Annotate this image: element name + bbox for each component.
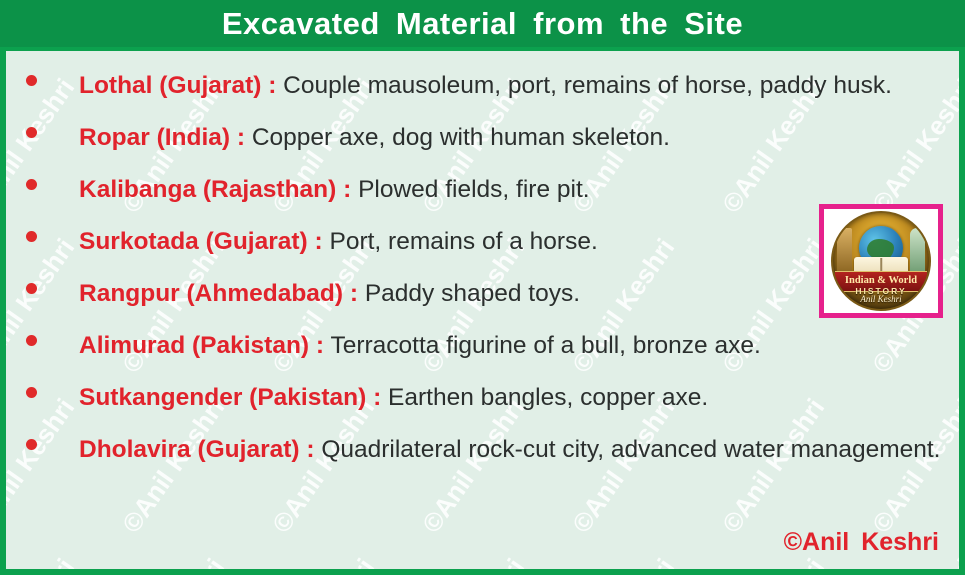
watermark-text: ©Anil Keshri xyxy=(566,553,681,569)
watermark-text: ©Anil Keshri xyxy=(6,553,81,569)
brand-logo: Indian & World HISTORY Anil Keshri xyxy=(819,204,943,318)
bullet-icon xyxy=(26,335,37,346)
bullet-icon xyxy=(26,387,37,398)
site-description: Plowed fields, fire pit. xyxy=(358,176,590,203)
site-description: Terracotta figurine of a bull, bronze ax… xyxy=(330,332,760,359)
watermark-text: ©Anil Keshri xyxy=(116,553,231,569)
list-item-text: Rangpur (Ahmedabad) : Paddy shaped toys. xyxy=(79,280,580,307)
bullet-icon xyxy=(26,231,37,242)
logo-title: Indian & World xyxy=(845,276,917,287)
site-description: Earthen bangles, copper axe. xyxy=(388,384,708,411)
list-item: Kalibanga (Rajasthan) : Plowed fields, f… xyxy=(6,164,959,216)
excavation-list: Lothal (Gujarat) : Couple mausoleum, por… xyxy=(6,51,959,476)
list-item: Alimurad (Pakistan) : Terracotta figurin… xyxy=(6,320,959,372)
site-description: Paddy shaped toys. xyxy=(365,280,580,307)
site-name: Surkotada (Gujarat) : xyxy=(79,228,323,255)
list-item-text: Dholavira (Gujarat) : Quadrilateral rock… xyxy=(79,424,945,476)
list-item-text: Kalibanga (Rajasthan) : Plowed fields, f… xyxy=(79,176,590,203)
site-name: Alimurad (Pakistan) : xyxy=(79,332,324,359)
list-item: Lothal (Gujarat) : Couple mausoleum, por… xyxy=(6,60,959,112)
site-name: Kalibanga (Rajasthan) : xyxy=(79,176,351,203)
list-item: Dholavira (Gujarat) : Quadrilateral rock… xyxy=(6,424,959,476)
bullet-icon xyxy=(26,75,37,86)
logo-emblem-icon: Indian & World HISTORY Anil Keshri xyxy=(831,211,931,311)
logo-signature: Anil Keshri xyxy=(833,294,929,304)
site-name: Dholavira (Gujarat) : xyxy=(79,436,315,463)
watermark-text: ©Anil Keshri xyxy=(266,553,381,569)
bullet-icon xyxy=(26,179,37,190)
author-credit: ©Anil Keshri xyxy=(784,528,939,557)
list-item-text: Sutkangender (Pakistan) : Earthen bangle… xyxy=(79,384,708,411)
bullet-icon xyxy=(26,127,37,138)
site-name: Sutkangender (Pakistan) : xyxy=(79,384,381,411)
site-name: Rangpur (Ahmedabad) : xyxy=(79,280,358,307)
list-item-text: Ropar (India) : Copper axe, dog with hum… xyxy=(79,124,670,151)
site-description: Quadrilateral rock-cut city, advanced wa… xyxy=(321,436,940,463)
list-item-text: Alimurad (Pakistan) : Terracotta figurin… xyxy=(79,332,761,359)
poster-card: Excavated Material from the Site ©Anil K… xyxy=(0,0,965,575)
site-description: Port, remains of a horse. xyxy=(330,228,598,255)
logo-statue-icon xyxy=(910,228,925,274)
bullet-icon xyxy=(26,439,37,450)
bullet-icon xyxy=(26,283,37,294)
list-item-text: Lothal (Gujarat) : Couple mausoleum, por… xyxy=(79,60,945,112)
site-description: Copper axe, dog with human skeleton. xyxy=(252,124,670,151)
page-title: Excavated Material from the Site xyxy=(222,8,743,39)
watermark-text: ©Anil Keshri xyxy=(416,553,531,569)
site-description: Couple mausoleum, port, remains of horse… xyxy=(283,72,892,99)
site-name: Lothal (Gujarat) : xyxy=(79,72,276,99)
logo-pillar-left-icon xyxy=(837,228,852,274)
list-item: Surkotada (Gujarat) : Port, remains of a… xyxy=(6,216,959,268)
list-item: Rangpur (Ahmedabad) : Paddy shaped toys. xyxy=(6,268,959,320)
list-item: Ropar (India) : Copper axe, dog with hum… xyxy=(6,112,959,164)
list-item-text: Surkotada (Gujarat) : Port, remains of a… xyxy=(79,228,598,255)
content-frame: ©Anil Keshri©Anil Keshri©Anil Keshri©Ani… xyxy=(0,47,965,575)
list-item: Sutkangender (Pakistan) : Earthen bangle… xyxy=(6,372,959,424)
site-name: Ropar (India) : xyxy=(79,124,245,151)
header-bar: Excavated Material from the Site xyxy=(0,0,965,47)
